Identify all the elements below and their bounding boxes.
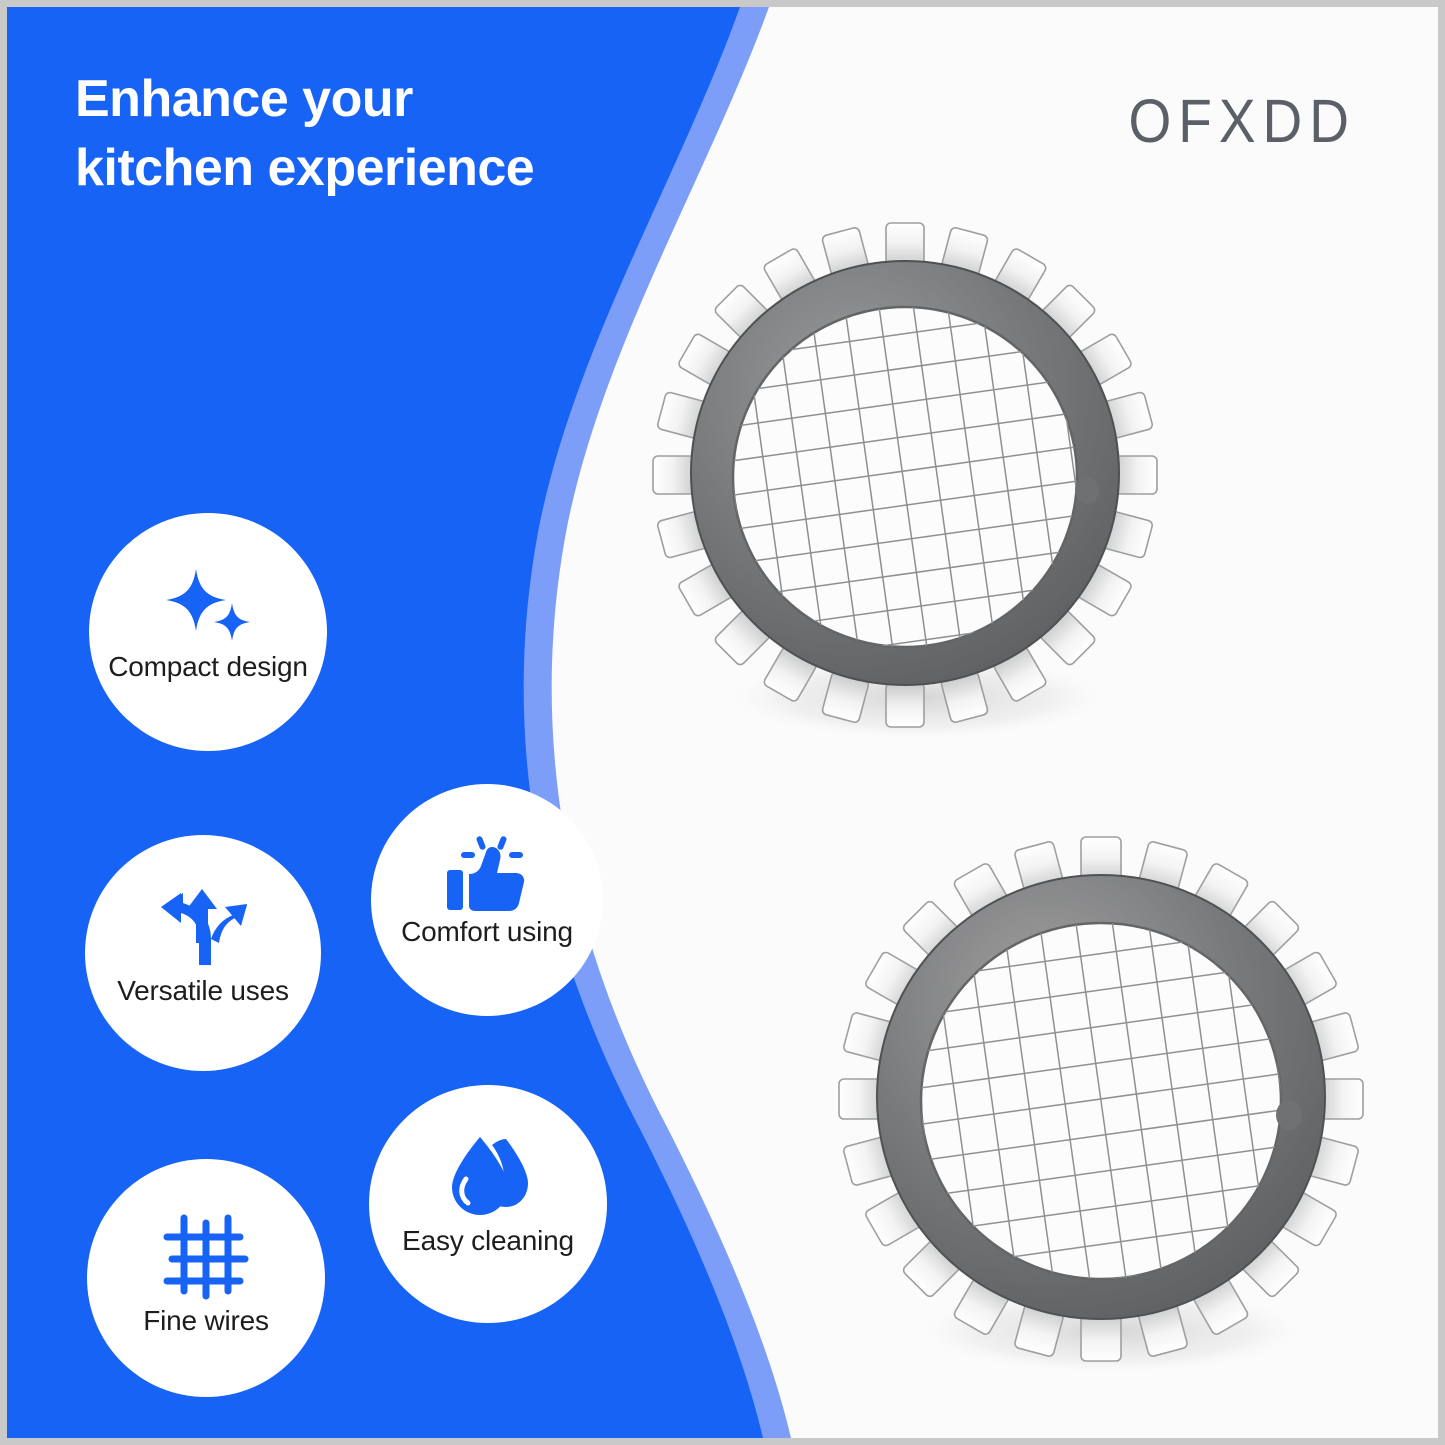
- ring-inner-opening: [733, 307, 1077, 647]
- feature-badge-easy-cleaning[interactable]: Easy cleaning: [369, 1085, 607, 1323]
- feature-badge-comfort-using[interactable]: Comfort using: [371, 784, 603, 1016]
- thumbs-up-icon: [441, 830, 533, 914]
- headline-line-2: kitchen experience: [75, 134, 635, 203]
- sparkle-icon-wrap: [89, 565, 327, 651]
- sparkle-icon: [162, 567, 254, 651]
- feature-label: Comfort using: [331, 916, 643, 948]
- brand-logo: OFXDD: [1129, 85, 1357, 157]
- feature-label: Fine wires: [47, 1305, 365, 1337]
- headline-line-1: Enhance your: [75, 70, 413, 128]
- rim-nick: [1075, 476, 1099, 504]
- grid-mesh-icon: [162, 1213, 250, 1301]
- branching-arrows-icon: [155, 885, 251, 971]
- grid-mesh-icon-wrap: [87, 1211, 325, 1301]
- product-image-mesh-ring-bottom: [819, 819, 1379, 1379]
- water-drop-icon: [442, 1133, 534, 1223]
- feature-badge-versatile-uses[interactable]: Versatile uses: [85, 835, 321, 1071]
- feature-label: Compact design: [49, 651, 367, 683]
- rim-nick: [1276, 1100, 1302, 1130]
- feature-badge-compact-design[interactable]: Compact design: [89, 513, 327, 751]
- thumbs-up-icon-wrap: [371, 828, 603, 914]
- page-title: Enhance your kitchen experience: [75, 65, 635, 203]
- feature-badge-fine-wires[interactable]: Fine wires: [87, 1159, 325, 1397]
- water-drop-icon-wrap: [369, 1133, 607, 1223]
- feature-label: Easy cleaning: [329, 1225, 647, 1257]
- product-image-mesh-ring-top: [635, 205, 1175, 745]
- feature-label: Versatile uses: [45, 975, 361, 1007]
- branching-arrows-icon-wrap: [85, 883, 321, 971]
- product-marketing-image: Enhance your kitchen experience OFXDD: [0, 0, 1445, 1445]
